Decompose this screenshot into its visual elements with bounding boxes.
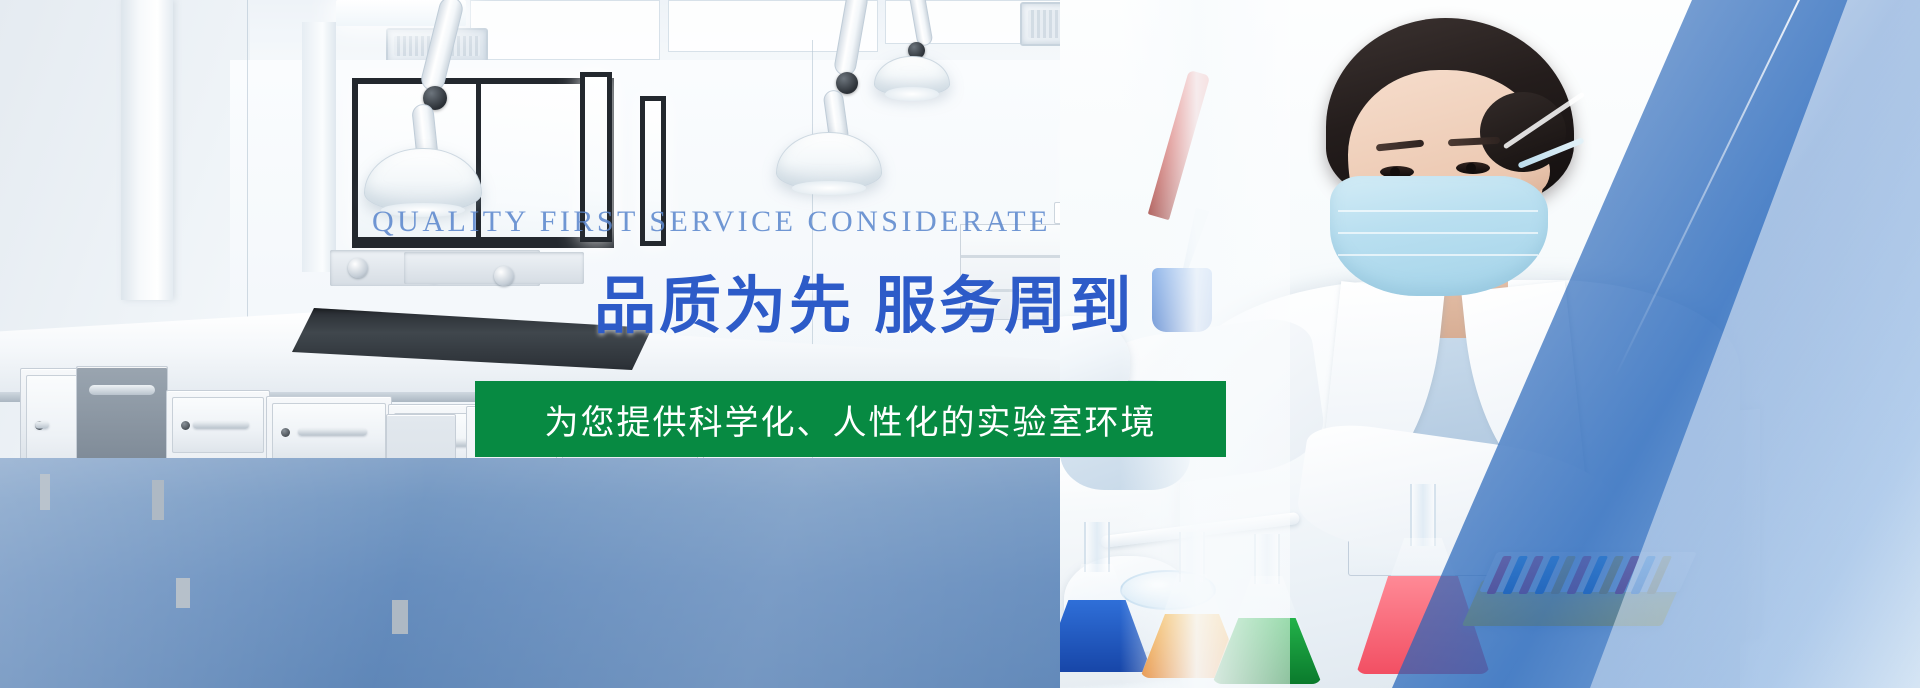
banner-eyebrow-text: QUALITY FIRST SERVICE CONSIDERATE <box>372 205 1020 239</box>
hero-banner: QUALITY FIRST SERVICE CONSIDERATE 品质为先 服… <box>0 0 1920 688</box>
banner-headline: 品质为先 服务周到 <box>594 255 1134 345</box>
banner-subtitle-text: 为您提供科学化、人性化的实验室环境 <box>545 395 1157 444</box>
banner-subtitle-band: 为您提供科学化、人性化的实验室环境 <box>475 381 1226 457</box>
banner-copy: QUALITY FIRST SERVICE CONSIDERATE 品质为先 服… <box>0 0 1920 688</box>
